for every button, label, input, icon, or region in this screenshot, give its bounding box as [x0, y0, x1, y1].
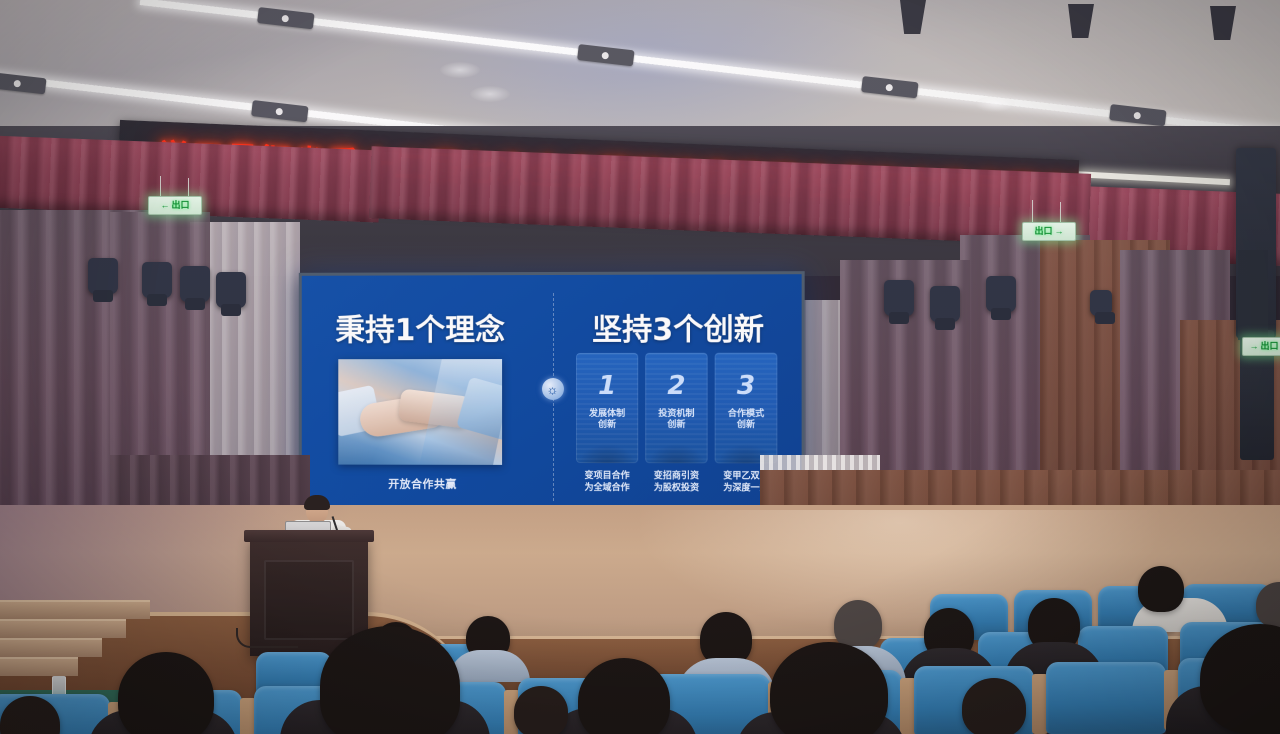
exit-arrow-icon: → [1055, 227, 1064, 236]
exit-sign-stem [1060, 202, 1061, 224]
presenter-hair [304, 495, 330, 510]
audience-area [0, 560, 1280, 734]
stage-light-fixture [180, 266, 210, 302]
card-label: 发展体制 创新 [576, 409, 638, 432]
attendee-head [320, 626, 460, 734]
card-label: 投资机制 创新 [645, 409, 707, 432]
innovation-card-1: 1 发展体制 创新 [576, 353, 638, 463]
card-shadow [576, 443, 638, 463]
ceiling-light-bracket [1109, 104, 1166, 126]
podium-top-surface [244, 530, 374, 542]
ceiling-fixture [900, 0, 926, 34]
ceiling-downlight [975, 96, 1015, 112]
stage-light-fixture [1090, 290, 1112, 316]
auditorium-photo: 学习贯彻省委十二届七次全会精神培育旅游名县和文旅品牌专题研讨班 ← 出口 出口 … [0, 0, 1280, 734]
attendee-head [1138, 566, 1184, 612]
stage-light-fixture [142, 262, 172, 298]
slide-heading-right: 坚持3个创新 [592, 304, 764, 348]
innovation-card-2: 2 投资机制 创新 [645, 353, 707, 463]
ceiling-downlight [440, 62, 480, 78]
card-label-line1: 发展体制 [589, 409, 625, 419]
card-label-line1: 合作模式 [728, 409, 764, 419]
card-caption-line1: 变招商引资 [654, 471, 699, 481]
ceiling-light-bracket [0, 72, 47, 94]
exit-sign-left: ← 出口 [148, 196, 202, 215]
exit-sign-label: 出口 [1260, 342, 1278, 351]
stage-light-fixture [88, 258, 118, 294]
ceiling-fixture [1068, 4, 1094, 38]
ceiling-light-bracket [257, 7, 314, 29]
exit-sign-label: 出口 [1034, 227, 1052, 236]
card-shadow [645, 443, 707, 463]
exit-arrow-icon: → [1249, 342, 1258, 351]
card-captions: 变项目合作 为全域合作 变招商引资 为股权投资 变甲乙双方 为深度一方 [576, 471, 777, 495]
card-label-line2: 创新 [667, 420, 685, 430]
card-caption-line1: 变项目合作 [585, 471, 630, 481]
ceiling-downlight [470, 86, 510, 102]
line-array-speaker-stack-left [1238, 250, 1268, 340]
attendee-head [962, 678, 1026, 734]
card-number: 2 [645, 371, 707, 401]
card-caption-line2: 为全域合作 [585, 483, 630, 493]
projection-screen: 秉持1个理念 坚持3个创新 ☼ 开放合作共赢 1 发展体制 创新 [299, 271, 805, 517]
exit-sign-far-right: → 出口 [1242, 337, 1280, 356]
exit-sign-stem [188, 178, 189, 198]
card-caption-2: 变招商引资 为股权投资 [645, 471, 707, 495]
handshake-glass-overlay [418, 359, 502, 465]
exit-sign-label: 出口 [171, 201, 189, 210]
stage-light-fixture [986, 276, 1016, 312]
innovation-card-3: 3 合作模式 创新 [715, 353, 778, 464]
card-caption-1: 变项目合作 为全域合作 [576, 471, 638, 495]
stage-light-fixture [216, 272, 246, 308]
card-number: 3 [715, 371, 778, 401]
attendee-head [118, 652, 214, 734]
card-label-line2: 创新 [737, 420, 755, 430]
ceiling-light-bracket [251, 100, 308, 122]
ceiling-fixture [1210, 6, 1236, 40]
card-caption-line2: 为股权投资 [654, 483, 699, 493]
card-label-line1: 投资机制 [658, 409, 694, 419]
seat [1046, 662, 1166, 734]
presentation-slide: 秉持1个理念 坚持3个创新 ☼ 开放合作共赢 1 发展体制 创新 [302, 274, 802, 514]
exit-sign-center-right: 出口 → [1022, 222, 1076, 241]
card-label: 合作模式 创新 [715, 409, 778, 432]
innovation-cards: 1 发展体制 创新 2 投资机制 创新 3 [576, 353, 777, 464]
globe-icon: ☼ [542, 378, 564, 400]
exit-sign-stem [1032, 200, 1033, 222]
exit-sign-stem [160, 176, 161, 196]
exit-arrow-icon: ← [160, 201, 169, 210]
slide-heading-left: 秉持1个理念 [335, 305, 505, 349]
attendee-head [514, 686, 568, 734]
stage-light-fixture [930, 286, 960, 322]
stage-light-fixture [884, 280, 914, 316]
card-label-line2: 创新 [598, 420, 616, 430]
handshake-photo [338, 359, 502, 465]
slide-caption-left: 开放合作共赢 [363, 476, 482, 492]
attendee-head [578, 658, 670, 734]
card-number: 1 [576, 371, 638, 401]
